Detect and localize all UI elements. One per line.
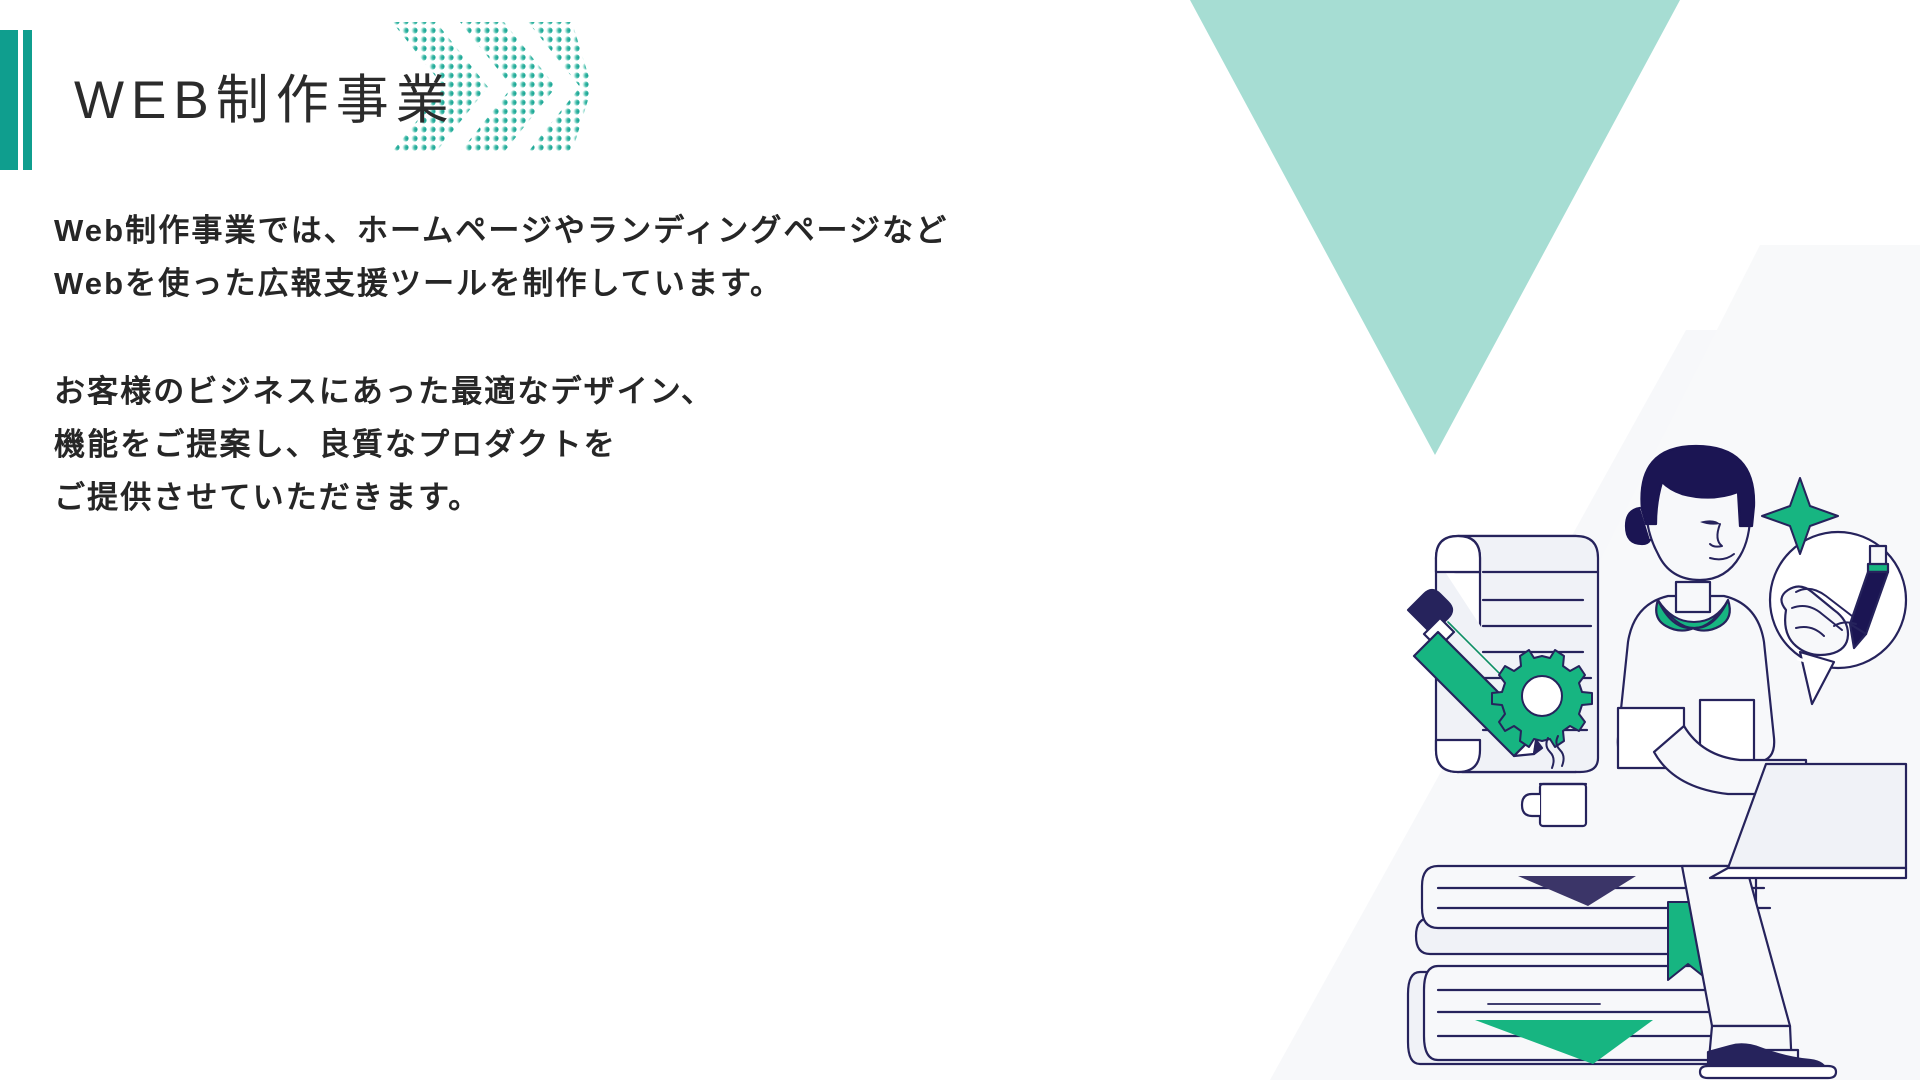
page-title: WEB制作事業 — [74, 74, 456, 127]
web-production-illustration — [1400, 360, 1920, 1080]
accent-bar-thick — [0, 30, 18, 170]
accent-bar-thin — [23, 30, 32, 170]
paragraph-line: Webを使った広報支援ツールを制作しています。 — [54, 257, 948, 310]
header-title-wrap: WEB制作事業 — [74, 30, 456, 170]
page-header: WEB制作事業 — [0, 30, 456, 170]
slide-canvas: WEB制作事業 Web制作事業では、ホームページやランディングページなど Web… — [0, 0, 1920, 1080]
paragraph-1: Web制作事業では、ホームページやランディングページなど Webを使った広報支援… — [54, 204, 948, 311]
speech-bubble-hand-with-pen — [1770, 532, 1906, 704]
paragraph-line: お客様のビジネスにあった最適なデザイン、 — [54, 365, 948, 418]
teal-accent-bar — [0, 30, 32, 170]
paragraph-line: 機能をご提案し、良質なプロダクトを — [54, 418, 948, 471]
paragraph-2: お客様のビジネスにあった最適なデザイン、 機能をご提案し、良質なプロダクトを ご… — [54, 365, 948, 525]
paragraph-line: Web制作事業では、ホームページやランディングページなど — [54, 204, 948, 257]
body-copy: Web制作事業では、ホームページやランディングページなど Webを使った広報支援… — [54, 204, 948, 525]
paragraph-line: ご提供させていただきます。 — [54, 471, 948, 524]
